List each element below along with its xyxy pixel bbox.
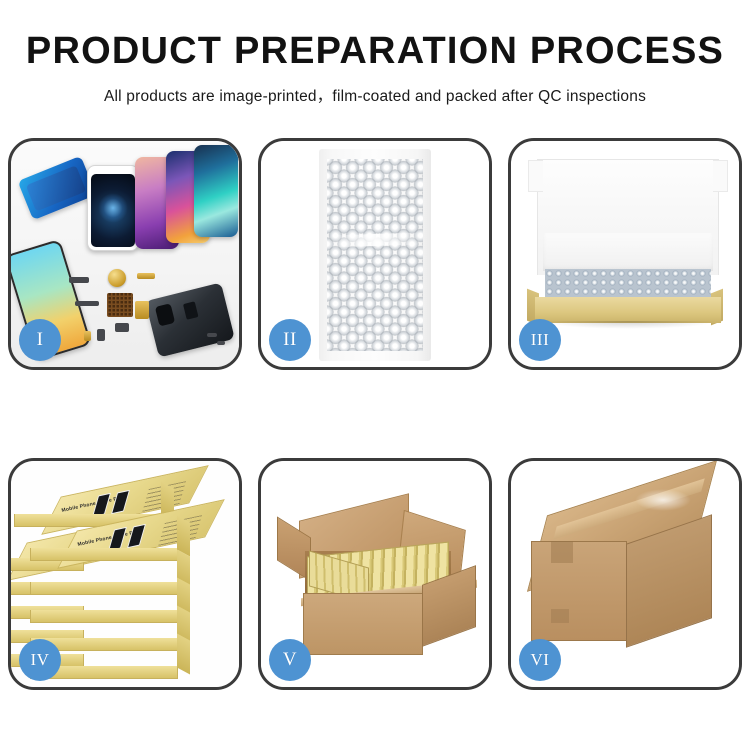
carton-flap-seam (551, 609, 569, 623)
bubble-wrap-sleeve-icon (319, 149, 431, 361)
step-panel-2: II (258, 138, 492, 370)
process-steps-grid: I II (8, 138, 742, 710)
open-carton-icon (273, 497, 483, 662)
screw-part-icon (217, 341, 225, 345)
carton-front-face (303, 593, 423, 655)
step-badge-label: V (283, 649, 297, 671)
step-badge-label: VI (531, 650, 550, 670)
foam-insert-icon (543, 233, 713, 271)
flex-cable-icon (137, 273, 155, 279)
chip-part-icon (69, 277, 89, 283)
bubble-pattern-icon (327, 159, 423, 351)
step-badge-label: IV (31, 650, 50, 670)
product-preparation-infographic: PRODUCT PREPARATION PROCESS All products… (0, 0, 750, 750)
carton-flap-seam (551, 541, 573, 563)
step-panel-3: III (508, 138, 742, 370)
step-badge-label: I (37, 329, 44, 351)
step-badge-4: IV (19, 639, 61, 681)
step-badge-1: I (19, 319, 61, 361)
sealed-carton-icon (525, 487, 731, 665)
bubble-wrapped-item-icon (545, 269, 711, 297)
phone-screen-teal-icon (194, 145, 238, 237)
flex-cable-icon (135, 301, 149, 319)
screw-part-icon (207, 333, 217, 337)
chip-part-icon (97, 329, 105, 341)
step-badge-5: V (269, 639, 311, 681)
step-badge-3: III (519, 319, 561, 361)
header: PRODUCT PREPARATION PROCESS All products… (0, 0, 750, 106)
step-badge-2: II (269, 319, 311, 361)
carton-left-face (531, 541, 627, 641)
phone-back-housing-icon (145, 282, 235, 357)
speaker-component-icon (108, 269, 126, 287)
chip-part-icon (75, 301, 99, 306)
circuit-board-icon (107, 293, 133, 317)
step-badge-label: III (531, 330, 549, 350)
carton-highlight (635, 489, 691, 511)
step-panel-4: Mobile Phone Spare Parts Mobile Phone Sp… (8, 458, 242, 690)
chip-part-icon (115, 323, 129, 332)
page-title: PRODUCT PREPARATION PROCESS (0, 32, 750, 70)
step-panel-5: V (258, 458, 492, 690)
step-badge-label: II (283, 329, 297, 351)
phone-screen-glass-icon (87, 165, 139, 251)
flex-cable-icon (84, 331, 91, 341)
box-shadow (541, 321, 717, 329)
phone-back-cover-blue-icon (18, 156, 97, 220)
page-subtitle: All products are image-printed，film-coat… (0, 84, 750, 106)
step-panel-6: VI (508, 458, 742, 690)
box-tray-front (535, 297, 721, 323)
step-panel-1: I (8, 138, 242, 370)
step-badge-6: VI (519, 639, 561, 681)
